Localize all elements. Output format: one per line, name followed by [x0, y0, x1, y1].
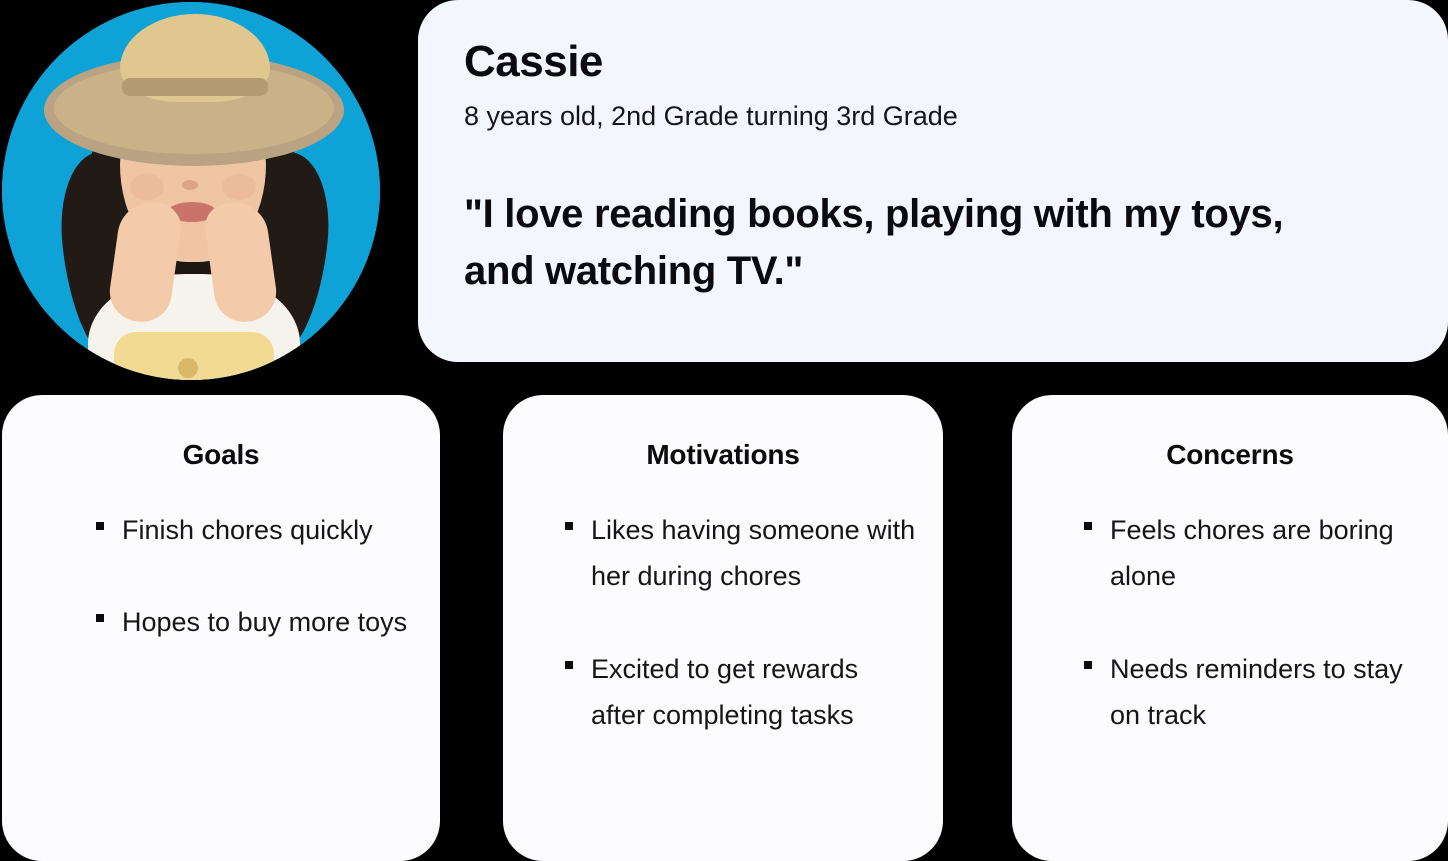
persona-header-card: Cassie 8 years old, 2nd Grade turning 3r…: [418, 0, 1448, 362]
bullet-square-icon: [1084, 661, 1092, 669]
list-item: Excited to get rewards after completing …: [529, 646, 917, 739]
person-quote: "I love reading books, playing with my t…: [464, 186, 1294, 300]
profile-photo: [2, 2, 380, 380]
list-item: Needs reminders to stay on track: [1038, 646, 1422, 739]
card-goals-list: Finish chores quickly Hopes to buy more …: [28, 507, 414, 646]
card-concerns-list: Feels chores are boring alone Needs remi…: [1038, 507, 1422, 739]
photo-cheek-right: [222, 174, 256, 200]
bullet-square-icon: [96, 522, 104, 530]
card-concerns: Concerns Feels chores are boring alone N…: [1012, 395, 1448, 861]
bullet-square-icon: [565, 661, 573, 669]
bullet-square-icon: [1084, 522, 1092, 530]
list-item-text: Excited to get rewards after completing …: [591, 646, 917, 739]
photo-hat-band: [122, 78, 268, 96]
avatar: [2, 2, 380, 380]
person-age-grade: 8 years old, 2nd Grade turning 3rd Grade: [464, 100, 1402, 134]
photo-overall-button: [178, 358, 198, 378]
list-item: Finish chores quickly: [28, 507, 414, 553]
card-concerns-title: Concerns: [1038, 439, 1422, 471]
bullet-square-icon: [565, 522, 573, 530]
list-item: Feels chores are boring alone: [1038, 507, 1422, 600]
photo-cheek-left: [130, 174, 164, 200]
list-item-text: Needs reminders to stay on track: [1110, 646, 1422, 739]
list-item-text: Hopes to buy more toys: [122, 599, 407, 645]
photo-nose: [182, 180, 198, 190]
list-item-text: Feels chores are boring alone: [1110, 507, 1422, 600]
list-item: Hopes to buy more toys: [28, 599, 414, 645]
card-motivations-title: Motivations: [529, 439, 917, 471]
card-motivations: Motivations Likes having someone with he…: [503, 395, 943, 861]
list-item-text: Finish chores quickly: [122, 507, 373, 553]
bullet-square-icon: [96, 614, 104, 622]
card-goals: Goals Finish chores quickly Hopes to buy…: [2, 395, 440, 861]
card-motivations-list: Likes having someone with her during cho…: [529, 507, 917, 739]
person-name: Cassie: [464, 38, 1402, 86]
card-goals-title: Goals: [28, 439, 414, 471]
list-item-text: Likes having someone with her during cho…: [591, 507, 917, 600]
list-item: Likes having someone with her during cho…: [529, 507, 917, 600]
